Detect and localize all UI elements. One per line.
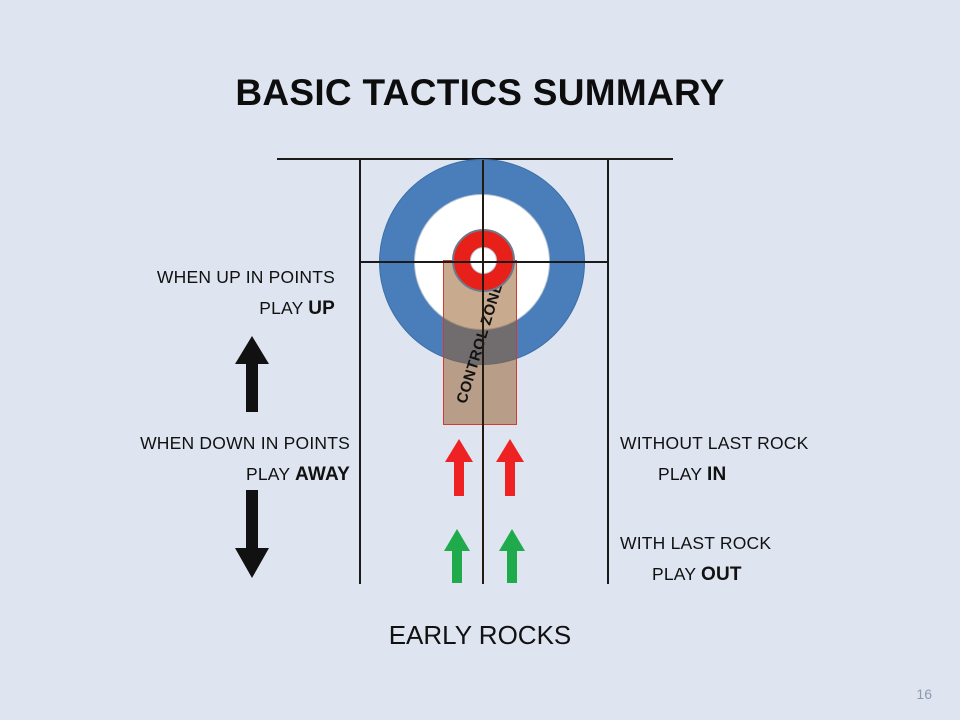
advice-down-action-row: PLAY AWAY (60, 459, 350, 490)
side-line-right (607, 160, 609, 584)
footer-label: EARLY ROCKS (330, 620, 630, 651)
advice-up-condition: WHEN UP IN POINTS (70, 262, 335, 293)
side-line-left (359, 160, 361, 584)
advice-down-in-points: WHEN DOWN IN POINTS PLAY AWAY (60, 428, 350, 490)
advice-without-action: IN (707, 464, 726, 485)
green-up-arrow-left (441, 528, 473, 584)
page-number: 16 (916, 686, 932, 702)
advice-without-condition: WITHOUT LAST ROCK (620, 428, 880, 459)
advice-down-condition: WHEN DOWN IN POINTS (60, 428, 350, 459)
advice-up-action-row: PLAY UP (70, 293, 335, 324)
green-up-arrow-right (496, 528, 528, 584)
advice-down-action-prefix: PLAY (246, 464, 290, 484)
centre-line (482, 160, 484, 584)
advice-with-action: OUT (701, 564, 742, 585)
diagram-stage: CONTROL ZONE WHEN UP IN P (0, 0, 960, 720)
advice-with-condition: WITH LAST ROCK (620, 528, 880, 559)
control-zone-label: CONTROL ZONE (453, 280, 506, 405)
advice-down-action: AWAY (295, 464, 350, 485)
advice-with-action-prefix: PLAY (652, 564, 696, 584)
slide-canvas: BASIC TACTICS SUMMARY CONTROL ZONE (0, 0, 960, 720)
tee-line (360, 261, 609, 263)
advice-without-action-row: PLAY IN (620, 459, 880, 490)
advice-without-last-rock: WITHOUT LAST ROCK PLAY IN (620, 428, 880, 490)
red-up-arrow-right (494, 438, 526, 498)
advice-with-action-row: PLAY OUT (620, 559, 880, 590)
black-down-arrow (232, 488, 272, 580)
advice-without-action-prefix: PLAY (658, 464, 702, 484)
black-up-arrow (232, 334, 272, 414)
advice-with-last-rock: WITH LAST ROCK PLAY OUT (620, 528, 880, 590)
advice-up-action-prefix: PLAY (259, 298, 303, 318)
red-up-arrow-left (443, 438, 475, 498)
advice-up-in-points: WHEN UP IN POINTS PLAY UP (70, 262, 335, 324)
advice-up-action: UP (308, 298, 335, 319)
